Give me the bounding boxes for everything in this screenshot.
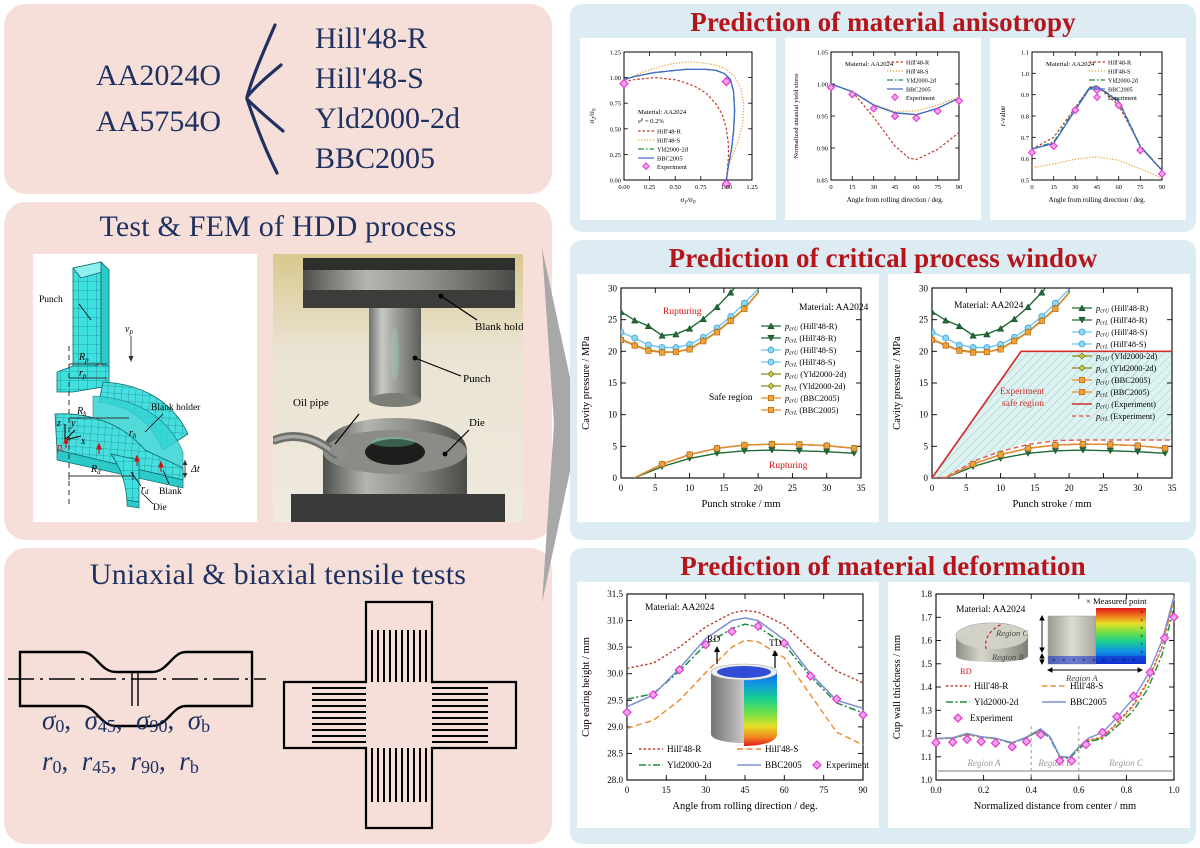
svg-text:1.00: 1.00 [817, 82, 828, 89]
svg-text:x: x [80, 436, 86, 447]
svg-text:0.00: 0.00 [618, 184, 629, 191]
svg-text:Experiment: Experiment [1108, 95, 1137, 102]
svg-text:0: 0 [829, 184, 832, 191]
svg-text:1.05: 1.05 [817, 50, 828, 57]
materials-list: AA2024O AA5754O [96, 53, 221, 146]
chart-cup-earing-height: RD TD 01530 456075 90 28.028.529.0 29.53… [577, 582, 879, 828]
svg-text:×: × [1092, 658, 1095, 664]
svg-text:0.8: 0.8 [1120, 785, 1132, 795]
svg-text:Hill'48-S: Hill'48-S [765, 744, 798, 754]
svg-text:0.75: 0.75 [610, 101, 621, 108]
model-item: Hill'48-S [315, 59, 460, 99]
svg-text:35: 35 [856, 483, 866, 493]
chart-normalized-yield-stress: 01530 456075 90 0.850.90 0.951.001.05 An… [785, 38, 981, 220]
svg-text:25: 25 [919, 315, 929, 325]
svg-text:safe region: safe region [1002, 398, 1044, 409]
svg-text:0.7: 0.7 [1021, 135, 1030, 142]
svg-text:0: 0 [929, 483, 934, 493]
svg-text:×: × [1140, 626, 1143, 632]
materials-models-card: AA2024O AA5754O Hill'48-R Hill'48-S Yld2… [4, 4, 552, 194]
svg-text:0.75: 0.75 [695, 184, 706, 191]
svg-text:0.6: 0.6 [1073, 785, 1085, 795]
svg-text:y: y [70, 418, 76, 429]
svg-text:Region B: Region B [1037, 758, 1072, 768]
svg-text:75: 75 [819, 785, 829, 795]
model-item: BBC2005 [315, 139, 460, 179]
svg-text:1.1: 1.1 [920, 752, 931, 762]
svg-text:Cup earing height / mm: Cup earing height / mm [581, 637, 592, 737]
svg-text:10: 10 [685, 483, 695, 493]
chart-r-value: 01530 456075 90 0.50.60.7 0.80.91.0 1.1 … [990, 38, 1186, 220]
svg-text:0: 0 [618, 483, 623, 493]
material-item: AA5754O [96, 99, 221, 146]
svg-text:Material: AA2024: Material: AA2024 [954, 301, 1024, 311]
svg-text:Oil pipe: Oil pipe [293, 397, 329, 409]
svg-text:Cavity pressure / MPa: Cavity pressure / MPa [892, 336, 903, 430]
svg-text:×: × [1140, 650, 1143, 656]
svg-text:60: 60 [779, 785, 789, 795]
chart-yield-locus: 0.000.25 0.500.75 1.001.25 0.000.25 0.50… [580, 38, 776, 220]
left-column: AA2024O AA5754O Hill'48-R Hill'48-S Yld2… [0, 0, 556, 848]
stress-parameters: σ0, σ45, σ90, σb [42, 700, 210, 741]
yield-models-list: Hill'48-R Hill'48-S Yld2000-2d BBC2005 [315, 19, 460, 179]
anisotropy-section-title: Prediction of material anisotropy [570, 4, 1196, 38]
svg-text:1.3: 1.3 [920, 706, 932, 716]
svg-text:60: 60 [913, 184, 920, 191]
svg-text:Experiment: Experiment [657, 164, 687, 171]
svg-text:Hill'48-R: Hill'48-R [667, 744, 702, 754]
svg-text:z: z [56, 418, 61, 429]
svg-text:0: 0 [624, 785, 629, 795]
svg-text:Experiment: Experiment [826, 760, 869, 770]
svg-text:25: 25 [608, 315, 618, 325]
svg-text:15: 15 [608, 378, 618, 388]
svg-text:29.0: 29.0 [607, 722, 623, 732]
svg-text:Die: Die [153, 503, 167, 513]
tensile-card-title: Uniaxial & biaxial tensile tests [4, 548, 552, 592]
svg-text:Hill'48-S: Hill'48-S [906, 69, 929, 76]
svg-text:Hill'48-S: Hill'48-S [1070, 681, 1103, 691]
svg-text:Δt: Δt [190, 464, 200, 475]
svg-text:×: × [1140, 634, 1143, 640]
svg-text:Yld2000-2d: Yld2000-2d [667, 760, 712, 770]
hdd-experiment-photo: Blank holder Punch Oil pipe Die [273, 254, 523, 522]
svg-text:RD: RD [960, 666, 972, 676]
svg-text:Material: AA2024: Material: AA2024 [645, 603, 715, 613]
svg-text:1.0: 1.0 [1021, 71, 1029, 78]
svg-text:×: × [1072, 658, 1075, 664]
svg-text:Material: AA2024: Material: AA2024 [638, 109, 687, 116]
svg-text:Material: AA2024: Material: AA2024 [845, 61, 894, 68]
svg-text:0.0: 0.0 [930, 785, 942, 795]
svg-text:Rh: Rh [76, 406, 87, 418]
svg-text:BBC2005: BBC2005 [1070, 697, 1107, 707]
svg-text:1.1: 1.1 [1021, 50, 1029, 57]
svg-text:Region C: Region C [995, 628, 1028, 638]
process-window-section: Prediction of critical process window [570, 240, 1196, 540]
svg-text:Safe region: Safe region [709, 392, 753, 403]
svg-text:×: × [1052, 658, 1055, 664]
chart-process-window-simulation: 0510 152025 3035 0510 152025 30 Punch st… [577, 274, 879, 522]
svg-text:35: 35 [1167, 483, 1177, 493]
svg-text:29.5: 29.5 [607, 695, 623, 705]
svg-text:Yld2000-2d: Yld2000-2d [1108, 78, 1139, 85]
cruciform-specimen-icon [284, 602, 516, 828]
svg-text:1.25: 1.25 [746, 184, 757, 191]
svg-text:0.6: 0.6 [1021, 156, 1030, 163]
svg-text:0.50: 0.50 [670, 184, 681, 191]
svg-text:0.2: 0.2 [977, 785, 988, 795]
svg-text:45: 45 [1094, 184, 1101, 191]
svg-text:1.00: 1.00 [610, 75, 621, 82]
svg-text:rd: rd [141, 484, 149, 496]
svg-text:20: 20 [608, 346, 618, 356]
brace-icon [233, 19, 305, 179]
svg-text:5: 5 [964, 483, 969, 493]
deformation-section-title: Prediction of material deformation [570, 548, 1196, 582]
svg-text:BBC2005: BBC2005 [1108, 87, 1133, 94]
svg-text:15: 15 [661, 785, 671, 795]
svg-text:Angle from rolling direction /: Angle from rolling direction / deg. [672, 801, 817, 812]
svg-text:30.5: 30.5 [607, 642, 623, 652]
svg-text:× Measured point: × Measured point [1086, 596, 1147, 606]
svg-text:75: 75 [1137, 184, 1144, 191]
svg-text:0.8: 0.8 [1021, 114, 1029, 121]
svg-text:30: 30 [870, 184, 877, 191]
svg-text:90: 90 [1159, 184, 1166, 191]
svg-text:0: 0 [1030, 184, 1033, 191]
svg-text:Die: Die [469, 417, 485, 429]
svg-text:25: 25 [787, 483, 797, 493]
svg-text:Cavity pressure / MPa: Cavity pressure / MPa [581, 336, 592, 430]
svg-text:20: 20 [919, 346, 929, 356]
svg-text:Cup wall thickness / mm: Cup wall thickness / mm [892, 635, 903, 739]
svg-text:Punch stroke / mm: Punch stroke / mm [1012, 499, 1091, 510]
fem-card-title: Test & FEM of HDD process [4, 202, 552, 244]
svg-text:×: × [1132, 658, 1135, 664]
measured-parameters: σ0, σ45, σ90, σb r0, r45, r90, rb [42, 700, 210, 781]
svg-text:10: 10 [996, 483, 1006, 493]
svg-text:30: 30 [608, 284, 618, 294]
svg-text:×: × [1122, 658, 1125, 664]
chart-cup-wall-thickness: Region ARegion BRegion C [888, 582, 1190, 828]
svg-text:Blank holder: Blank holder [475, 321, 523, 333]
svg-text:Angle from rolling direction /: Angle from rolling direction / deg. [1049, 196, 1146, 204]
svg-text:0.4: 0.4 [1025, 785, 1037, 795]
svg-text:30: 30 [919, 284, 929, 294]
svg-text:90: 90 [858, 785, 868, 795]
svg-text:Punch: Punch [39, 295, 63, 305]
svg-text:Experiment: Experiment [906, 95, 935, 102]
svg-text:Hill'48-R: Hill'48-R [974, 681, 1009, 691]
svg-text:BBC2005: BBC2005 [657, 156, 683, 163]
svg-text:×: × [1112, 658, 1115, 664]
svg-text:15: 15 [919, 378, 929, 388]
svg-text:Region C: Region C [1108, 758, 1144, 768]
svg-text:Hill'48-R: Hill'48-R [906, 60, 930, 67]
svg-text:10: 10 [608, 410, 618, 420]
svg-text:Normalized uniaxial yield stre: Normalized uniaxial yield stress [793, 73, 800, 159]
svg-text:×: × [1140, 642, 1143, 648]
svg-text:0.9: 0.9 [1021, 92, 1029, 99]
svg-text:Yld2000-2d: Yld2000-2d [657, 147, 689, 154]
material-item: AA2024O [96, 53, 221, 100]
svg-text:1.0: 1.0 [920, 775, 932, 785]
svg-text:×: × [1140, 610, 1143, 616]
svg-text:Experiment: Experiment [1000, 387, 1045, 397]
r-value-parameters: r0, r45, r90, rb [42, 741, 210, 782]
svg-text:1.2: 1.2 [920, 729, 931, 739]
svg-text:15: 15 [1050, 184, 1057, 191]
svg-text:30: 30 [701, 785, 711, 795]
fem-card: Test & FEM of HDD process [4, 202, 552, 540]
svg-text:15: 15 [719, 483, 729, 493]
svg-text:Blank holder: Blank holder [151, 403, 201, 413]
svg-text:Rupturing: Rupturing [769, 461, 808, 471]
svg-text:Material: AA2024: Material: AA2024 [799, 303, 869, 313]
svg-text:Punch: Punch [463, 373, 491, 385]
svg-text:0.50: 0.50 [610, 126, 621, 133]
svg-text:1.7: 1.7 [920, 613, 932, 623]
svg-text:×: × [1140, 618, 1143, 624]
svg-text:30: 30 [822, 483, 832, 493]
tensile-tests-card: Uniaxial & biaxial tensile tests [4, 548, 552, 844]
svg-text:0.85: 0.85 [817, 178, 828, 185]
svg-text:1.0: 1.0 [1168, 785, 1180, 795]
svg-text:Normalized distance from cente: Normalized distance from center / mm [973, 801, 1135, 812]
svg-text:1.00: 1.00 [721, 184, 732, 191]
svg-text:BBC2005: BBC2005 [765, 760, 802, 770]
svg-text:Rupturing: Rupturing [663, 307, 702, 317]
svg-text:1.4: 1.4 [920, 682, 932, 692]
svg-text:0: 0 [923, 473, 928, 483]
right-column: Prediction of material anisotropy [566, 0, 1200, 848]
svg-text:BBC2005: BBC2005 [906, 87, 931, 94]
svg-text:28.0: 28.0 [607, 775, 623, 785]
svg-text:r-value: r-value [999, 106, 1007, 126]
svg-text:30.0: 30.0 [607, 669, 623, 679]
svg-text:Hill'48-R: Hill'48-R [1108, 60, 1132, 67]
svg-text:Hill'48-S: Hill'48-S [1108, 69, 1131, 76]
fem-mesh-figure: Punch vp Rp rp Blank holder Rh rh z y x … [33, 254, 257, 522]
svg-text:15: 15 [1030, 483, 1040, 493]
svg-text:20: 20 [753, 483, 763, 493]
svg-text:1.8: 1.8 [920, 589, 932, 599]
svg-text:RD: RD [707, 635, 720, 645]
svg-text:10: 10 [919, 410, 929, 420]
svg-text:0: 0 [612, 473, 617, 483]
svg-text:TD: TD [769, 639, 782, 649]
svg-text:90: 90 [956, 184, 963, 191]
svg-text:×: × [1082, 658, 1085, 664]
svg-text:Yld2000-2d: Yld2000-2d [974, 697, 1019, 707]
graphical-abstract: AA2024O AA5754O Hill'48-R Hill'48-S Yld2… [0, 0, 1200, 848]
svg-text:Material: AA2024: Material: AA2024 [956, 605, 1026, 615]
svg-text:1.25: 1.25 [610, 50, 621, 57]
svg-text:5: 5 [612, 441, 617, 451]
svg-text:0.95: 0.95 [817, 114, 828, 121]
svg-text:20: 20 [1064, 483, 1074, 493]
svg-text:28.5: 28.5 [607, 748, 623, 758]
svg-text:5: 5 [923, 441, 928, 451]
svg-text:0.5: 0.5 [1021, 178, 1029, 185]
svg-text:×: × [1062, 658, 1065, 664]
svg-text:Angle from rolling direction /: Angle from rolling direction / deg. [847, 196, 944, 204]
process-window-section-title: Prediction of critical process window [570, 240, 1196, 274]
svg-text:31.0: 31.0 [607, 616, 623, 626]
svg-text:45: 45 [892, 184, 899, 191]
svg-text:0.25: 0.25 [644, 184, 655, 191]
svg-text:Experiment: Experiment [970, 713, 1013, 723]
svg-text:75: 75 [934, 184, 941, 191]
svg-text:Hill'48-R: Hill'48-R [657, 129, 682, 136]
svg-text:1.6: 1.6 [920, 636, 932, 646]
svg-text:30: 30 [1072, 184, 1079, 191]
svg-text:×: × [1102, 658, 1105, 664]
svg-text:45: 45 [740, 785, 750, 795]
svg-text:1.5: 1.5 [920, 659, 932, 669]
svg-text:vp: vp [125, 324, 133, 336]
svg-text:Blank: Blank [159, 487, 182, 497]
svg-text:Punch stroke / mm: Punch stroke / mm [701, 499, 780, 510]
svg-text:Material: AA2024: Material: AA2024 [1046, 61, 1095, 68]
svg-text:5: 5 [653, 483, 658, 493]
svg-text:Hill'48-S: Hill'48-S [657, 138, 681, 145]
svg-text:Yld2000-2d: Yld2000-2d [906, 78, 937, 85]
svg-text:Region B: Region B [991, 652, 1024, 662]
svg-text:0.00: 0.00 [610, 178, 621, 185]
model-item: Yld2000-2d [315, 99, 460, 139]
svg-text:15: 15 [849, 184, 856, 191]
svg-text:60: 60 [1115, 184, 1122, 191]
svg-text:Region A: Region A [966, 758, 1001, 768]
anisotropy-section: Prediction of material anisotropy [570, 4, 1196, 232]
chart-process-window-experiment: 0510 152025 3035 0510 152025 30 Punch st… [888, 274, 1190, 522]
svg-text:30: 30 [1133, 483, 1143, 493]
svg-text:0.90: 0.90 [817, 146, 828, 153]
svg-text:25: 25 [1098, 483, 1108, 493]
model-item: Hill'48-R [315, 19, 460, 59]
deformation-section: Prediction of material deformation [570, 548, 1196, 844]
svg-text:0.25: 0.25 [610, 152, 621, 159]
svg-text:31.5: 31.5 [607, 589, 623, 599]
